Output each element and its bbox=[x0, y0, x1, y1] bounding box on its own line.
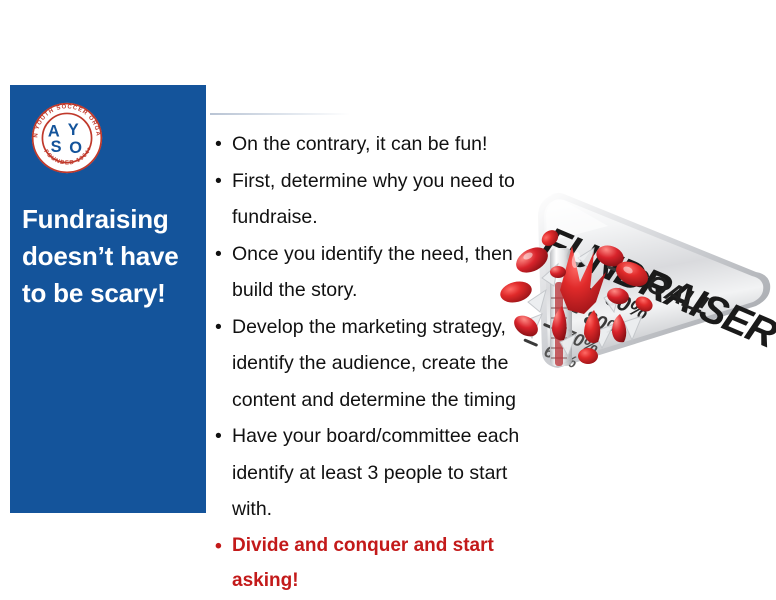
fundraiser-thermometer-image: FUNDRAISER GOAL! 90% 80% 70% 60% bbox=[498, 186, 776, 394]
ayso-logo-icon: AMERICAN YOUTH SOCCER ORGANIZATION FOUND… bbox=[28, 99, 106, 177]
list-item: • On the contrary, it can be fun! bbox=[210, 126, 540, 163]
svg-text:Y: Y bbox=[68, 121, 79, 139]
list-item: • Develop the marketing strategy, identi… bbox=[210, 309, 540, 419]
list-item-text: First, determine why you need to fundrai… bbox=[232, 170, 515, 229]
list-item-text: Divide and conquer and start asking! bbox=[232, 535, 494, 591]
list-item: • First, determine why you need to fundr… bbox=[210, 163, 540, 236]
svg-text:O: O bbox=[69, 139, 82, 157]
bullet-icon: • bbox=[215, 163, 222, 200]
left-title-panel: AMERICAN YOUTH SOCCER ORGANIZATION FOUND… bbox=[10, 85, 206, 513]
list-item: • Once you identify the need, then build… bbox=[210, 236, 540, 309]
list-item-text: Once you identify the need, then build t… bbox=[232, 243, 513, 302]
list-item: • Have your board/committee each identif… bbox=[210, 418, 540, 528]
list-item-text: Have your board/committee each identify … bbox=[232, 425, 519, 520]
bullet-icon: • bbox=[215, 418, 222, 455]
slide-canvas: AMERICAN YOUTH SOCCER ORGANIZATION FOUND… bbox=[0, 0, 776, 600]
list-item-text: Develop the marketing strategy, identify… bbox=[232, 316, 516, 411]
content-divider bbox=[210, 113, 350, 115]
bullet-icon: • bbox=[215, 236, 222, 273]
list-item-emphasis: • Divide and conquer and start asking! bbox=[210, 528, 540, 598]
list-item-text: On the contrary, it can be fun! bbox=[232, 133, 487, 155]
bullet-icon: • bbox=[215, 309, 222, 346]
page-title: Fundraising doesn’t have to be scary! bbox=[22, 201, 206, 312]
bullet-list: • On the contrary, it can be fun! • Firs… bbox=[210, 126, 540, 598]
bullet-icon: • bbox=[215, 126, 222, 163]
svg-text:S: S bbox=[51, 138, 62, 156]
bullet-icon: • bbox=[215, 528, 222, 565]
